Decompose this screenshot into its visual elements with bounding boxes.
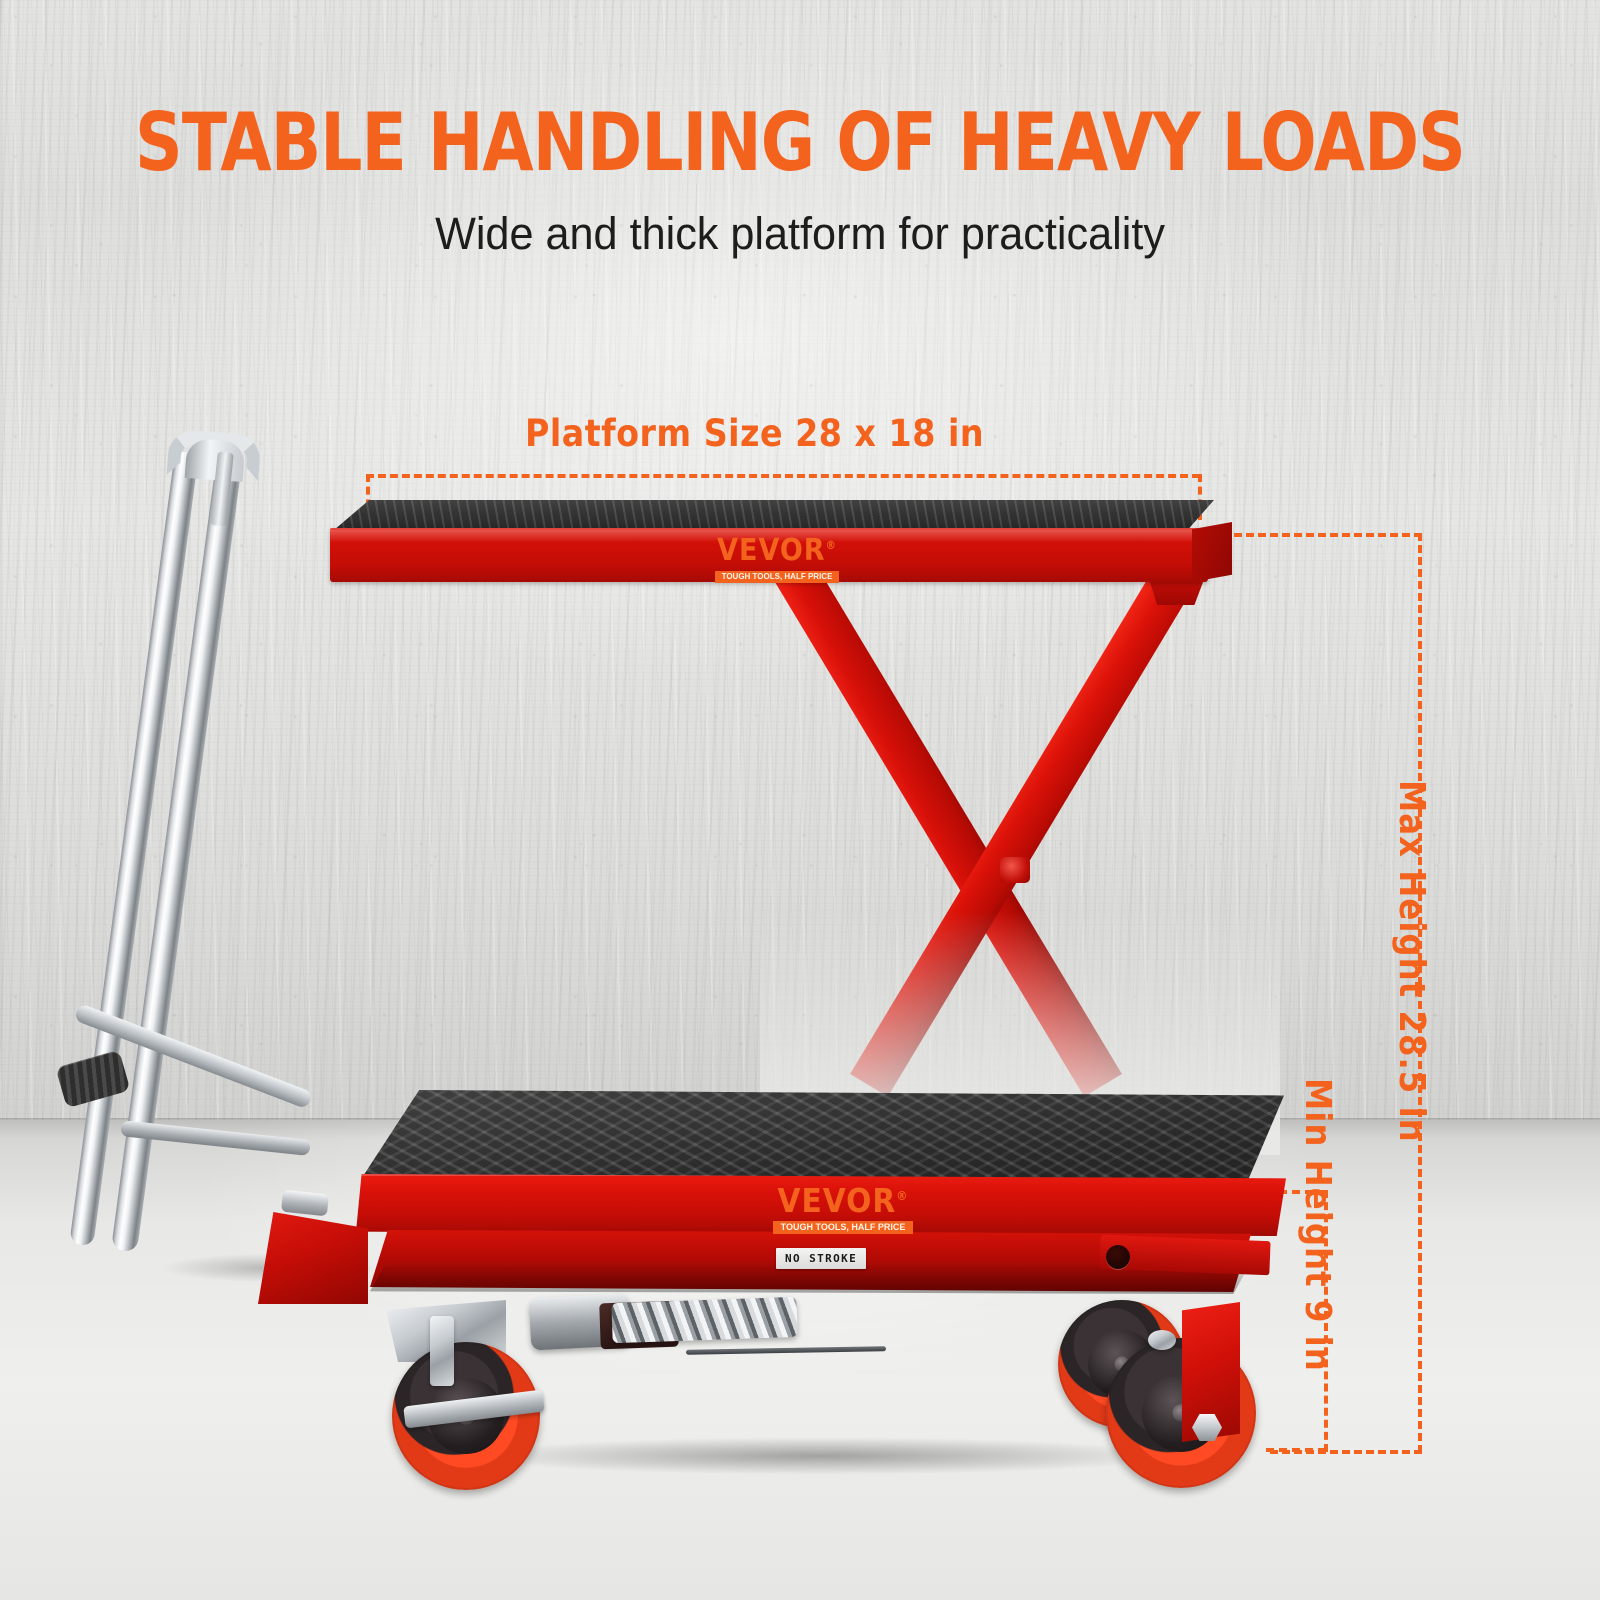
handle-collar-upper (281, 1190, 329, 1217)
brand-badge-top: VEVOR® TOUGH TOOLS, HALF PRICE (682, 536, 872, 584)
max-height-tick-top (1210, 533, 1422, 537)
brand-tagline-base: TOUGH TOOLS, HALF PRICE (773, 1221, 914, 1234)
platform-size-label: Platform Size 28 x 18 in (525, 412, 984, 455)
page-subheadline: Wide and thick platform for practicality (32, 208, 1568, 260)
no-stroke-sticker: NO STROKE (776, 1248, 866, 1269)
brand-tagline-top: TOUGH TOOLS, HALF PRICE (715, 571, 840, 583)
platform-size-dimension-line (366, 474, 1200, 478)
brand-badge-base: VEVOR® TOUGH TOOLS, HALF PRICE (738, 1184, 948, 1235)
max-height-label: Max Height 28.5 in (1391, 780, 1432, 1143)
raised-platform-endcap (1192, 522, 1232, 582)
raised-platform: VEVOR® TOUGH TOOLS, HALF PRICE (330, 500, 1230, 582)
front-caster-swivel-post (430, 1316, 454, 1386)
chassis-bolt-hole (1106, 1245, 1130, 1269)
min-height-label: Min Height 9 in (1297, 1078, 1338, 1372)
return-spring (611, 1297, 797, 1343)
rear-caster-axle-bolt (1148, 1330, 1176, 1350)
registered-mark-base: ® (896, 1188, 908, 1203)
scissor-center-pivot-bolt (1000, 857, 1030, 883)
brand-name-top: VEVOR® (682, 536, 872, 566)
page-headline: STABLE HANDLING OF HEAVY LOADS (64, 96, 1536, 189)
handle-mount-bracket (258, 1212, 368, 1304)
brand-name-base: VEVOR® (738, 1184, 948, 1217)
scissor-lift-mechanism (760, 575, 1280, 1155)
raised-platform-deck-texture (334, 500, 1214, 530)
scissor-arm-left (775, 560, 1122, 1097)
base-platform-deck-texture (364, 1090, 1284, 1182)
base-platform: VEVOR® TOUGH TOOLS, HALF PRICE (340, 1090, 1300, 1305)
registered-mark-top: ® (826, 538, 837, 552)
scissor-arm-right (850, 560, 1197, 1097)
product-infographic: STABLE HANDLING OF HEAVY LOADS Wide and … (0, 0, 1600, 1600)
